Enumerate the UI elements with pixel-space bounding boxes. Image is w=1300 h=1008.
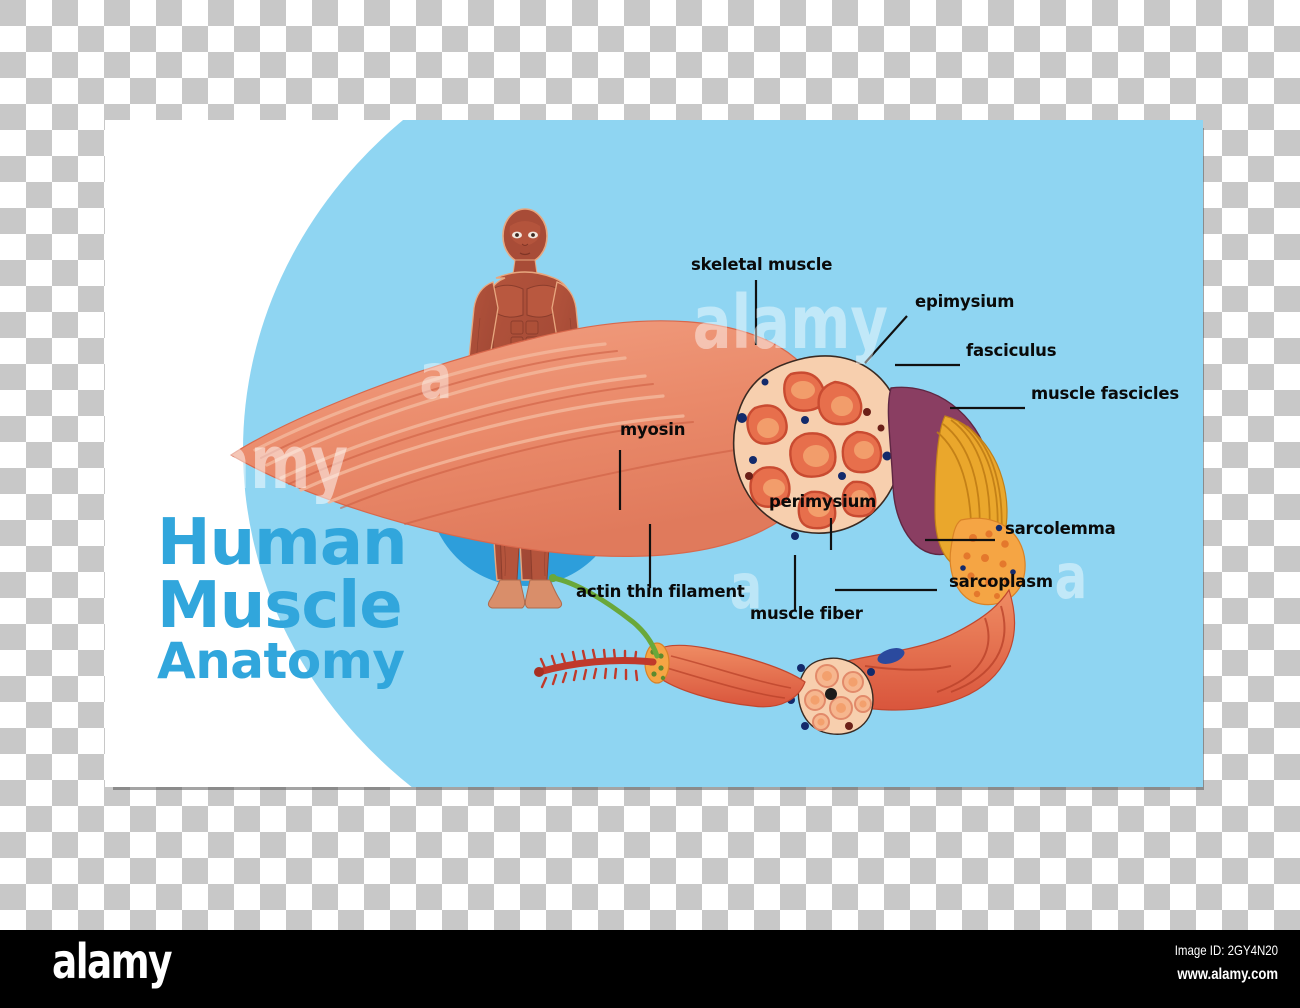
- label-sarcolemma: sarcolemma: [1005, 519, 1116, 538]
- screenshot-root: Human Muscle Anatomy: [0, 0, 1300, 1008]
- image-id-text: Image ID: 2GY4N20: [1175, 940, 1278, 961]
- label-muscle-fiber: muscle fiber: [750, 604, 863, 623]
- label-muscle-fascicles: muscle fascicles: [1031, 384, 1179, 403]
- alamy-website-link[interactable]: www.alamy.com: [1175, 963, 1278, 987]
- page-title: Human Muscle Anatomy: [157, 512, 457, 686]
- label-actin-thin-filament: actin thin filament: [576, 582, 745, 601]
- illustration-card: Human Muscle Anatomy: [105, 120, 1203, 787]
- alamy-footer-meta: Image ID: 2GY4N20 www.alamy.com: [1152, 940, 1278, 987]
- title-line-3: Anatomy: [157, 637, 457, 686]
- alamy-footer-bar: alamy Image ID: 2GY4N20 www.alamy.com: [0, 930, 1300, 1008]
- label-fasciculus: fasciculus: [966, 341, 1056, 360]
- title-line-2: Muscle: [157, 575, 457, 638]
- alamy-logo: alamy: [52, 938, 171, 986]
- title-line-1: Human: [157, 512, 457, 575]
- label-epimysium: epimysium: [915, 292, 1014, 311]
- single-muscle-fiber: [645, 643, 805, 707]
- label-perimysium: perimysium: [769, 492, 876, 511]
- label-myosin: myosin: [620, 420, 685, 439]
- label-sarcoplasm: sarcoplasm: [949, 572, 1053, 591]
- actin-thin-filament-shape: [534, 650, 653, 687]
- label-skeletal-muscle: skeletal muscle: [691, 255, 832, 274]
